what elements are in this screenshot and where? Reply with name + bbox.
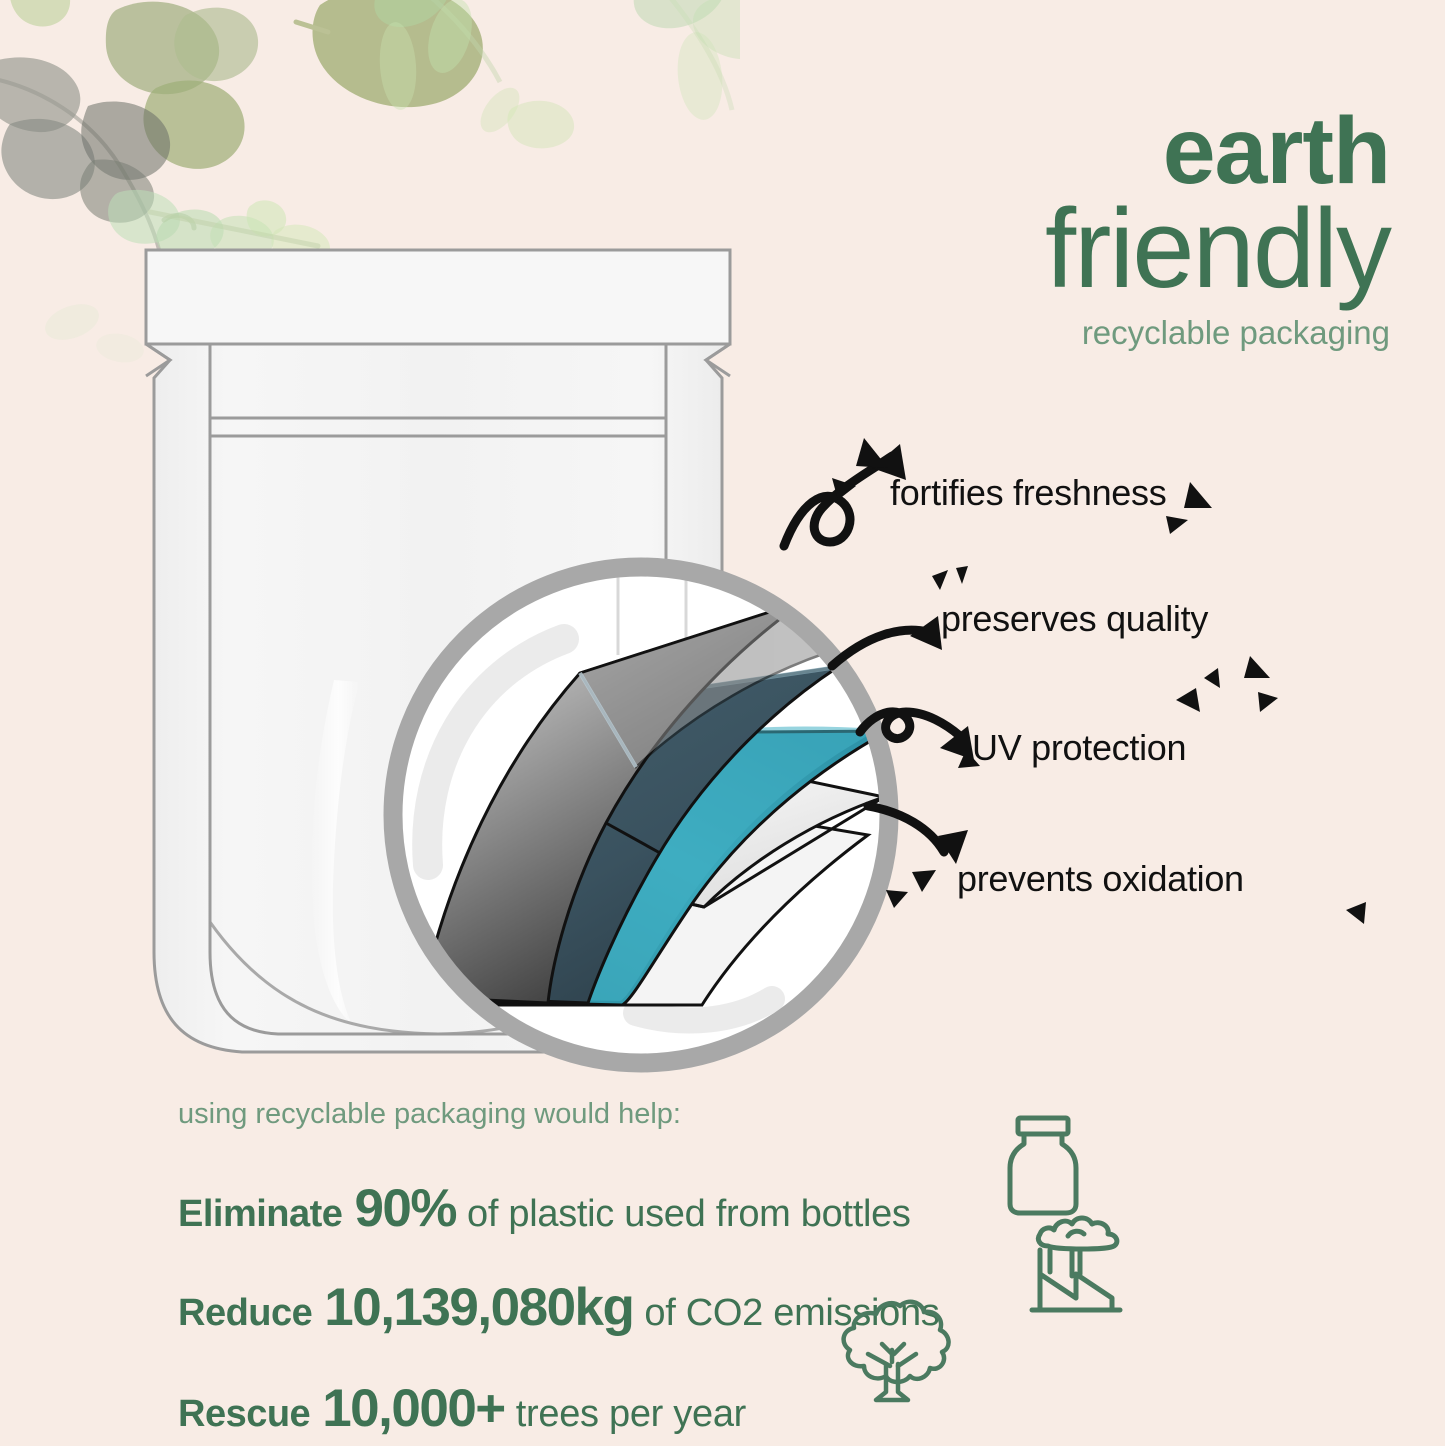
headline-subtitle: recyclable packaging	[830, 314, 1390, 352]
feature-label-fortifies-freshness: fortifies freshness	[890, 472, 1166, 514]
infographic-canvas: earth friendly recyclable packaging	[0, 0, 1445, 1446]
stat-verb: Rescue	[178, 1393, 310, 1436]
stat-figure: 90%	[354, 1178, 456, 1239]
stat-figure: 10,139,080kg	[324, 1277, 633, 1338]
magnified-layer-cutaway	[368, 535, 918, 1090]
headline-block: earth friendly recyclable packaging	[830, 108, 1390, 352]
feature-label-preserves-quality: preserves quality	[941, 598, 1208, 640]
feature-label-prevents-oxidation: prevents oxidation	[957, 858, 1244, 900]
tree-icon	[828, 1292, 956, 1412]
stats-intro-text: using recyclable packaging would help:	[178, 1098, 1288, 1131]
feature-label-uv-protection: UV protection	[972, 727, 1186, 769]
stat-tail: of plastic used from bottles	[467, 1193, 911, 1236]
headline-line-1: earth	[830, 108, 1390, 195]
stat-figure: 10,000+	[322, 1378, 505, 1439]
headline-line-2: friendly	[830, 197, 1390, 300]
stat-verb: Eliminate	[178, 1193, 342, 1236]
stat-row-rescue: Rescue 10,000+ trees per year	[178, 1378, 1288, 1439]
bottle-icon	[990, 1112, 1100, 1217]
stat-verb: Reduce	[178, 1292, 312, 1335]
factory-icon	[1018, 1214, 1136, 1322]
stat-tail: trees per year	[516, 1393, 746, 1436]
